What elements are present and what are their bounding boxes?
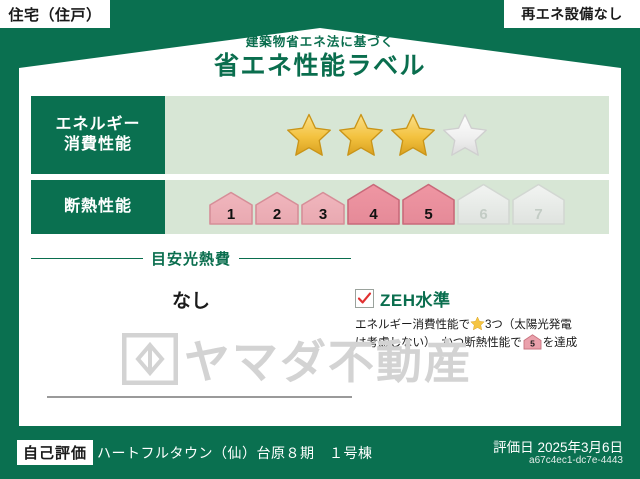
- divider-line-left: [31, 258, 143, 259]
- evaluation-date: 評価日 2025年3月6日: [493, 436, 623, 456]
- star-filled-icon: [285, 112, 333, 158]
- house-level-6: 6: [457, 183, 510, 230]
- star-filled-icon: [337, 112, 385, 158]
- energy-performance-label: 住宅（住戸） 再エネ設備なし 建築物省エネ法に基づく 省エネ性能ラベル エネルギ…: [0, 0, 640, 479]
- insulation-performance-label-box: 断熱性能: [31, 180, 165, 234]
- inline-house-number: 5: [530, 338, 535, 348]
- zeh-title: ZEH水準: [380, 286, 451, 311]
- utility-cost-divider: 目安光熱費: [31, 248, 351, 269]
- housing-type-tag: 住宅（住戸）: [0, 0, 110, 28]
- house-icon: [255, 191, 299, 225]
- house-icon: [402, 183, 455, 225]
- utility-cost-value: なし: [31, 286, 351, 313]
- energy-performance-value-area: [165, 96, 609, 174]
- zeh-heading: ZEH水準: [355, 286, 611, 311]
- energy-performance-label-box: エネルギー 消費性能: [31, 96, 165, 174]
- house-level-2: 2: [255, 191, 299, 230]
- house-level-1: 1: [209, 191, 253, 230]
- house-level-4: 4: [347, 183, 400, 230]
- house-level-5: 5: [402, 183, 455, 230]
- zeh-checkbox[interactable]: [355, 289, 374, 308]
- zeh-description: エネルギー消費性能で 3つ（太陽光発電は考慮しない）、かつ断熱性能で 5 を達成: [355, 316, 611, 352]
- label-footer: 自己評価 ハートフルタウン（仙）台原８期 １号棟 評価日 2025年3月6日 a…: [0, 426, 640, 479]
- insulation-performance-value-area: 1234567: [165, 180, 609, 234]
- evaluation-id: a67c4ec1-dc7e-4443: [529, 455, 623, 466]
- zeh-desc-part1: エネルギー消費性能で: [355, 318, 470, 331]
- house-icon: [209, 191, 253, 225]
- house-level-7: 7: [512, 183, 565, 230]
- house-level-3: 3: [301, 191, 345, 230]
- insulation-performance-row: 断熱性能 1234567: [31, 180, 609, 234]
- zeh-desc-stars: 3つ（太陽光発電: [485, 318, 572, 331]
- house-icon: [512, 183, 565, 225]
- house-icon: [347, 183, 400, 225]
- self-evaluation-badge: 自己評価: [17, 440, 93, 465]
- utility-cost-title: 目安光熱費: [151, 248, 231, 269]
- evaluation-date-label: 評価日: [493, 440, 534, 455]
- evaluation-date-value: 2025年3月6日: [537, 440, 623, 455]
- zeh-desc-part2: は考慮しない）、かつ断熱性能で: [355, 336, 522, 349]
- inline-house-icon: 5: [523, 334, 542, 350]
- star-filled-icon: [389, 112, 437, 158]
- house-icon: [457, 183, 510, 225]
- building-name: ハートフルタウン（仙）台原８期 １号棟: [97, 443, 373, 463]
- energy-label-line2: 消費性能: [64, 136, 132, 153]
- zeh-standard-block: ZEH水準 エネルギー消費性能で 3つ（太陽光発電は考慮しない）、かつ断熱性能で…: [355, 286, 611, 352]
- utility-cost-underline: [47, 396, 352, 398]
- energy-label-line1: エネルギー: [55, 116, 140, 133]
- divider-line-right: [239, 258, 351, 259]
- star-empty-icon: [441, 112, 489, 158]
- label-body-panel: エネルギー 消費性能 断熱性能 1234567 目安光熱費 なし: [19, 88, 621, 426]
- star-rating: [285, 112, 489, 158]
- house-rating-scale: 1234567: [209, 183, 565, 232]
- zeh-desc-part3: を達成: [543, 336, 577, 349]
- house-icon: [301, 191, 345, 225]
- roof-shape: [19, 28, 621, 90]
- energy-performance-row: エネルギー 消費性能: [31, 96, 609, 174]
- inline-star-icon: [470, 316, 485, 331]
- renewable-equipment-tag: 再エネ設備なし: [504, 0, 640, 28]
